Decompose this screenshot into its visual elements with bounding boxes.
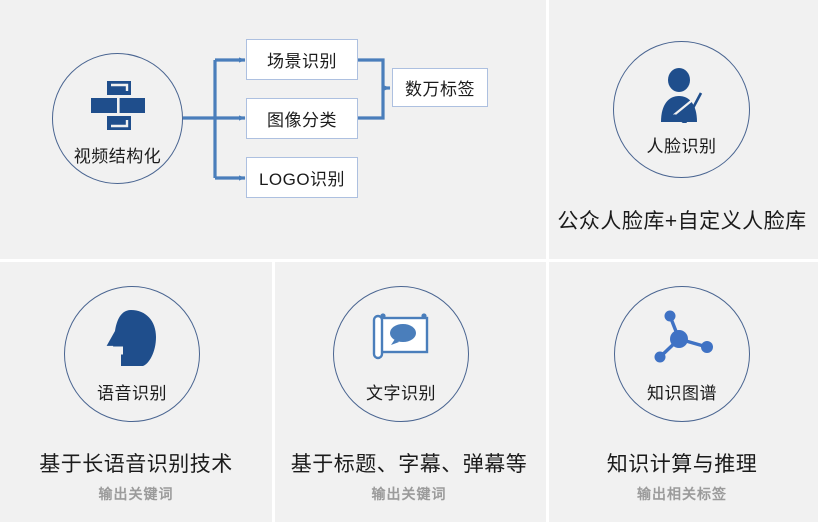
panel-text-recognition: 文字识别 基于标题、字幕、弹幕等 输出关键词 <box>272 262 546 522</box>
caption-sub-knowledge-graph: 输出相关标签 <box>546 484 818 504</box>
flow-box-image-classification[interactable]: 图像分类 <box>246 98 358 139</box>
infographic-canvas: 视频结构化 场景识别 图像分类 LOGO识别 数万标签 人脸识别 公众人脸库+自… <box>0 0 818 522</box>
circle-label-face-recognition: 人脸识别 <box>614 132 749 157</box>
caption-face-recognition: 公众人脸库+自定义人脸库 <box>546 205 818 235</box>
flow-box-logo-recognition[interactable]: LOGO识别 <box>246 157 358 198</box>
caption-main-speech-recognition: 基于长语音识别技术 <box>0 448 272 478</box>
circle-label-text-recognition: 文字识别 <box>334 379 468 404</box>
panel-face-recognition: 人脸识别 公众人脸库+自定义人脸库 <box>546 0 818 259</box>
flow-box-tens-of-thousands-tags[interactable]: 数万标签 <box>392 68 488 107</box>
caption-main-knowledge-graph: 知识计算与推理 <box>546 448 818 478</box>
text-banner-icon <box>334 311 468 363</box>
circle-video-structuring[interactable]: 视频结构化 <box>52 53 183 184</box>
knowledge-graph-icon <box>615 309 749 367</box>
circle-label-video-structuring: 视频结构化 <box>53 142 182 167</box>
circle-knowledge-graph[interactable]: 知识图谱 <box>614 286 750 422</box>
face-recognition-icon <box>614 67 749 123</box>
circle-speech-recognition[interactable]: 语音识别 <box>64 286 200 422</box>
flow-box-scene-recognition[interactable]: 场景识别 <box>246 39 358 80</box>
speech-head-icon <box>65 309 199 367</box>
panel-video-structuring: 视频结构化 场景识别 图像分类 LOGO识别 数万标签 <box>0 0 546 259</box>
circle-face-recognition[interactable]: 人脸识别 <box>613 41 750 178</box>
video-structuring-icon <box>53 79 182 133</box>
circle-label-knowledge-graph: 知识图谱 <box>615 379 749 404</box>
panel-speech-recognition: 语音识别 基于长语音识别技术 输出关键词 <box>0 262 272 522</box>
circle-label-speech-recognition: 语音识别 <box>65 379 199 404</box>
caption-sub-text-recognition: 输出关键词 <box>272 484 546 504</box>
caption-main-text-recognition: 基于标题、字幕、弹幕等 <box>272 448 546 478</box>
caption-sub-speech-recognition: 输出关键词 <box>0 484 272 504</box>
circle-text-recognition[interactable]: 文字识别 <box>333 286 469 422</box>
panel-knowledge-graph: 知识图谱 知识计算与推理 输出相关标签 <box>546 262 818 522</box>
